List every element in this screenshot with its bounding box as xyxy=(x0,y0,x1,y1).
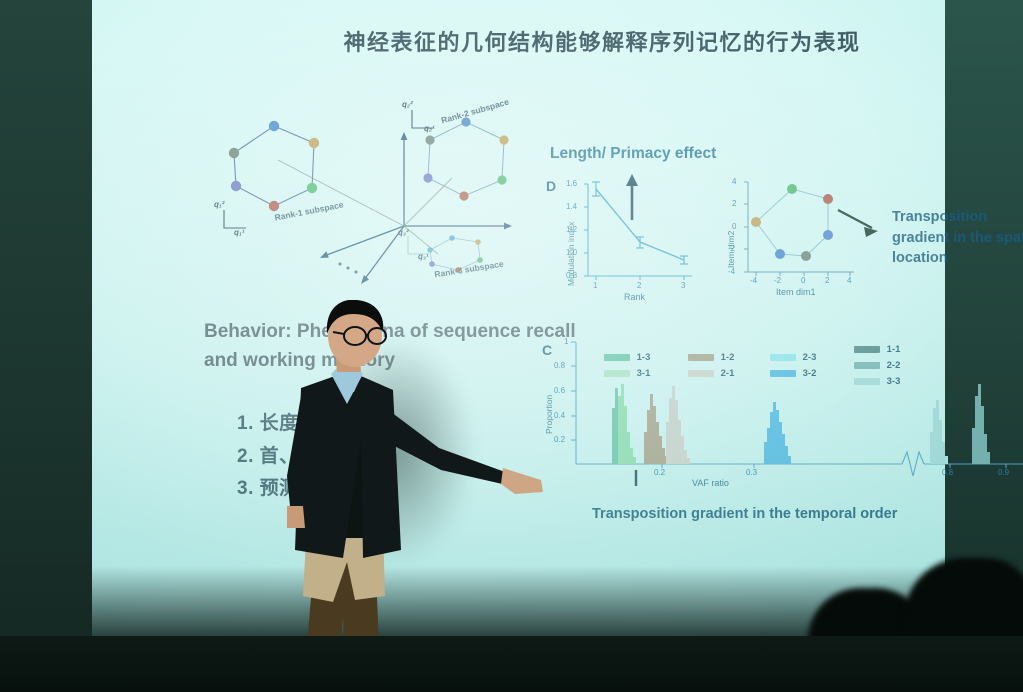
item-scatter-xtick-0: 0 xyxy=(801,276,805,285)
legend-swatch-1-3 xyxy=(604,354,630,361)
hist-series-3-1 xyxy=(618,384,636,464)
item-scatter-ring xyxy=(756,189,828,256)
item-scatter-ytick--2: -2 xyxy=(728,244,735,253)
length-primacy-title: Length/ Primacy effect xyxy=(550,145,716,163)
spatial-gradient-arrow xyxy=(838,210,878,237)
panel-d-ytick-1.4: 1.4 xyxy=(566,202,577,211)
legend-item-3-3: 3-3 xyxy=(854,376,900,387)
legend-swatch-3-1 xyxy=(604,370,630,377)
panel-c-xtick-0.2: 0.2 xyxy=(654,468,665,477)
legend-item-3-1: 3-1 xyxy=(604,368,650,379)
panel-c-ylabel: Proportion xyxy=(544,395,554,434)
panel-d-xtick-2: 2 xyxy=(637,281,641,290)
panel-d-errorbars xyxy=(592,182,688,264)
item-scatter-ytick-4: 4 xyxy=(732,177,736,186)
presenter-figure xyxy=(243,300,543,692)
panel-c-xlabel: VAF ratio xyxy=(692,478,729,488)
item-scatter-xtick--2: -2 xyxy=(774,276,781,285)
wall-right-panel xyxy=(945,0,1023,640)
rank2-axis-y-label: q₂² xyxy=(402,100,413,109)
slide-title: 神经表征的几何结构能够解释序列记忆的行为表现 xyxy=(292,25,912,57)
legend-item-2-1: 2-1 xyxy=(688,368,734,379)
panel-c-ytick-0.6: 0.6 xyxy=(554,386,565,395)
panel-c-ytick-0.8: 0.8 xyxy=(554,361,565,370)
rank1-axis-x-label: q₁¹ xyxy=(234,228,244,237)
legend-swatch-1-1 xyxy=(854,346,880,353)
stage-floor xyxy=(0,636,1023,692)
panel-d-ytick-1.2: 1.2 xyxy=(566,225,577,234)
panel-c-label: C xyxy=(542,342,552,358)
legend-swatch-3-2 xyxy=(770,370,796,377)
presenter-left-hand xyxy=(287,506,305,528)
panel-c-vaf-histogram: C Proportion xyxy=(532,336,1023,486)
legend-swatch-1-2 xyxy=(688,354,714,361)
panel-a-subspaces: Rank-1 subspace Rank-2 subspace Rank-3 s… xyxy=(212,88,552,288)
panel-d-label: D xyxy=(546,178,556,194)
presenter-right-hand xyxy=(501,468,543,494)
item-scatter-xtick--4: -4 xyxy=(750,276,757,285)
ellipsis-dots xyxy=(339,263,358,274)
transposition-temporal-annotation: Transposition gradient in the temporal o… xyxy=(592,506,897,522)
legend-swatch-3-3 xyxy=(854,378,880,385)
panel-d-ytick-0.8: 0.8 xyxy=(566,271,577,280)
panel-d-xlabel: Rank xyxy=(624,292,645,302)
primacy-up-arrow xyxy=(626,174,638,220)
hist-series-3-2 xyxy=(764,402,791,464)
panel-c-xtick-0.9: 0.9 xyxy=(998,468,1009,477)
legend-item-1-2: 1-2 xyxy=(688,352,734,363)
rank1-nodes xyxy=(229,121,319,211)
item-scatter-xlabel: Item dim1 xyxy=(776,287,816,297)
rank2-axis-x-label: q₂¹ xyxy=(424,124,435,133)
legend-item-3-2: 3-2 xyxy=(770,368,816,379)
transposition-spatial-annotation: Transposition gradient in the spatial lo… xyxy=(892,207,1023,269)
panel-d-xtick-1: 1 xyxy=(593,281,597,290)
item-scatter-ytick-0: 0 xyxy=(732,222,736,231)
rank1-axis-y-label: q₁² xyxy=(214,200,224,209)
panel-d-modulation-chart: D Modulation index xyxy=(544,168,714,308)
rank3-axis-x-label: q₃¹ xyxy=(418,252,429,261)
panel-d-ytick-1.6: 1.6 xyxy=(566,179,577,188)
item-scatter-xtick-4: 4 xyxy=(847,276,851,285)
item-scatter-points xyxy=(751,184,833,261)
item-scatter-ytick-2: 2 xyxy=(732,199,736,208)
hist-series-2-2 xyxy=(972,384,990,464)
panel-d-xtick-3: 3 xyxy=(681,281,685,290)
legend-swatch-2-3 xyxy=(770,354,796,361)
hist-series-3-3 xyxy=(930,400,948,464)
panel-d-series-line xyxy=(596,189,684,260)
screenshot-root: 神经表征的几何结构能够解释序列记忆的行为表现 xyxy=(0,0,1023,692)
legend-swatch-2-1 xyxy=(688,370,714,377)
legend-item-2-3: 2-3 xyxy=(770,352,816,363)
legend-item-1-3: 1-3 xyxy=(604,352,650,363)
legend-swatch-2-2 xyxy=(854,362,880,369)
panel-c-xtick-0.8: 0.8 xyxy=(942,468,953,477)
hist-series-1-2 xyxy=(644,394,668,464)
hist-series-2-1 xyxy=(666,386,690,464)
panel-c-ytick-0.2: 0.2 xyxy=(554,435,565,444)
presenter-svg xyxy=(243,300,543,692)
rank3-axis-y-label: q₃² xyxy=(398,228,409,237)
item-scatter-xtick-2: 2 xyxy=(825,276,829,285)
panel-d-ytick-1.0: 1.0 xyxy=(566,248,577,257)
panel-c-ytick-0.4: 0.4 xyxy=(554,411,565,420)
axis-break-zigzag xyxy=(902,452,924,476)
rank2-nodes xyxy=(423,117,508,200)
item-scatter-ytick--4: -4 xyxy=(728,267,735,276)
panel-c-ytick-1: 1 xyxy=(564,337,568,346)
wall-left-panel xyxy=(0,0,92,636)
panel-c-xtick-0.3: 0.3 xyxy=(746,468,757,477)
panel-item-space-scatter: Item dim2 xyxy=(720,172,880,307)
legend-item-2-2: 2-2 xyxy=(854,360,900,371)
legend-item-1-1: 1-1 xyxy=(854,344,900,355)
